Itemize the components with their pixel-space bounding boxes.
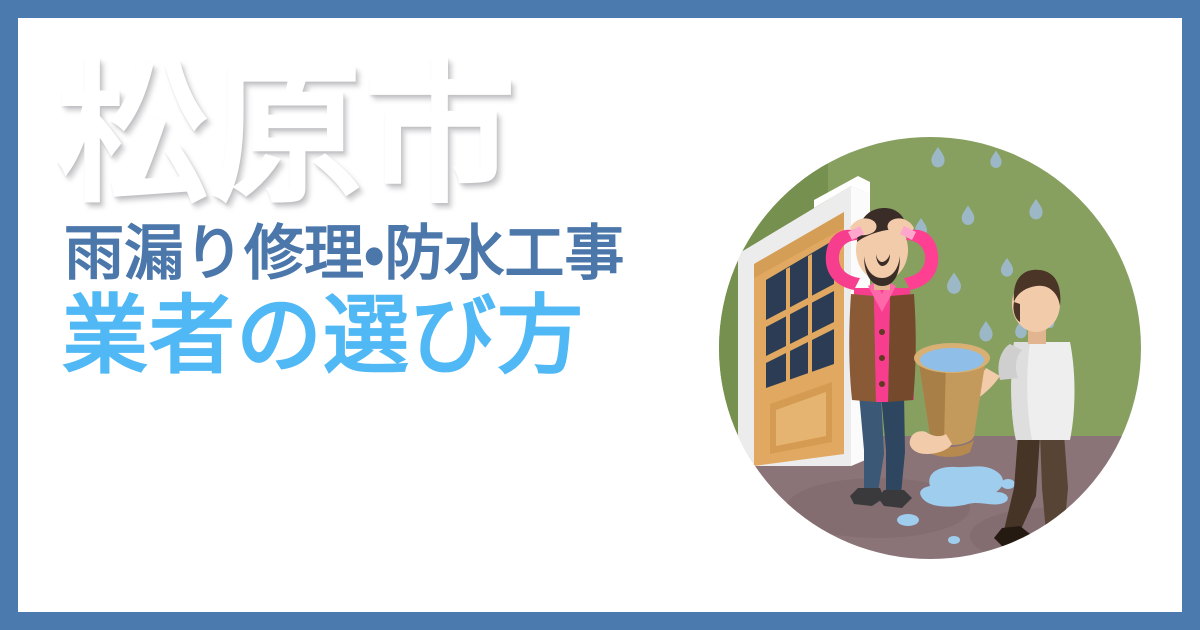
puddle-splash-1: [1001, 479, 1015, 489]
banner-root: 松原市 雨漏り修理・防水工事 業者の選び方: [0, 0, 1200, 630]
carrier-shoe-front: [1038, 526, 1078, 546]
border-bottom: [0, 612, 1200, 630]
door-mullion-v2: [808, 254, 812, 376]
city-title: 松原市: [56, 60, 716, 212]
worried-man-vest-button-1: [879, 329, 885, 335]
service-subtitle: 雨漏り修理・防水工事: [64, 222, 716, 285]
text-block: 松原市 雨漏り修理・防水工事 業者の選び方: [56, 60, 716, 381]
puddle-splash-2: [897, 514, 919, 526]
worried-man-vest-right: [888, 294, 916, 402]
illustration-scene: [718, 136, 1142, 560]
border-top: [0, 0, 1200, 18]
worried-man-vest-button-2: [879, 355, 885, 361]
puddle-splash-3: [948, 536, 960, 544]
door-mullion-v1: [786, 267, 790, 384]
page-headline: 業者の選び方: [62, 291, 716, 381]
worried-man-vest-left: [849, 294, 876, 402]
bucket-water: [920, 348, 984, 372]
border-right: [1182, 0, 1200, 630]
roof-leak-illustration: [718, 136, 1142, 560]
worried-man-vest-button-3: [879, 381, 885, 387]
border-left: [0, 0, 18, 630]
